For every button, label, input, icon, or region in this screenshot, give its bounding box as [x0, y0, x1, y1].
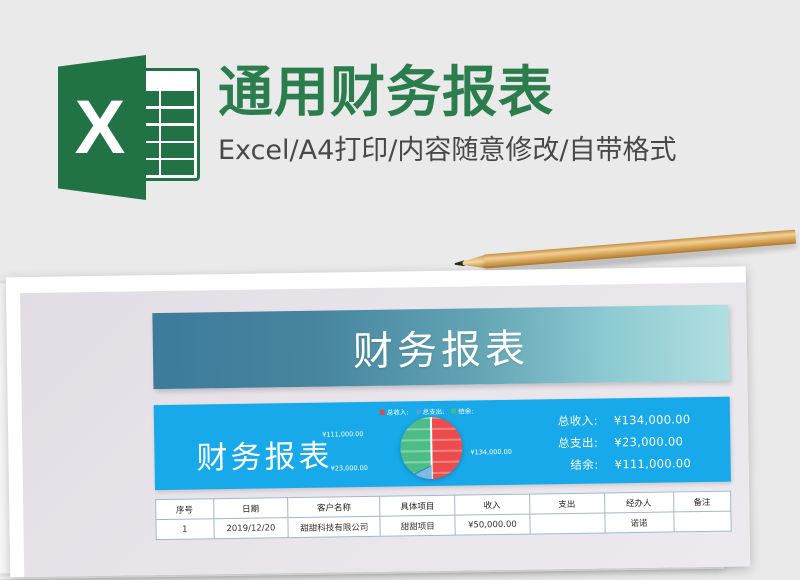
pie-slice-income — [431, 417, 463, 479]
document-preview-stack: 财务报表 财务报表 总收入: 总支出: — [0, 266, 748, 577]
table-header-project: 具体项目 — [380, 495, 455, 516]
pie-label-expense: ¥23,000.00 — [331, 464, 368, 473]
pencil-graphite-tip — [454, 260, 464, 267]
legend-item-balance: 结余: — [451, 405, 473, 415]
report-banner: 财务报表 — [152, 305, 729, 390]
cell-note — [673, 511, 731, 532]
pie-label-income: ¥134,000.00 — [470, 448, 511, 457]
page-subtitle: Excel/A4打印/内容随意修改/自带格式 — [218, 128, 676, 167]
cell-expense — [530, 513, 605, 534]
legend-label-income: 总收入: — [387, 406, 409, 416]
totals-block: 总收入: ¥134,000.00 总支出: ¥23,000.00 结余: ¥11… — [536, 411, 717, 480]
total-value-balance: ¥111,000.00 — [615, 456, 692, 471]
summary-title: 财务报表 — [196, 431, 333, 478]
excel-file-icon: X — [58, 55, 206, 200]
table-header-date: 日期 — [213, 498, 288, 519]
hero-section: X 通用财务报表 Excel/A4打印/内容随意修改/自带格式 — [0, 0, 800, 240]
total-row-balance: 结余: ¥111,000.00 — [537, 455, 717, 474]
excel-x-panel: X — [58, 55, 146, 200]
total-value-income: ¥134,000.00 — [614, 412, 691, 427]
cell-operator: 诺诺 — [604, 512, 673, 533]
legend-item-income: 总收入: — [380, 406, 409, 416]
cell-date: 2019/12/20 — [213, 518, 288, 539]
total-label-balance: 结余: — [537, 457, 599, 474]
page-title: 通用财务报表 — [218, 63, 676, 122]
summary-panel: 财务报表 总收入: 总支出: 结余: — [154, 397, 731, 491]
total-row-income: 总收入: ¥134,000.00 — [536, 411, 716, 430]
pie-chart — [400, 417, 463, 480]
legend-item-expense: 总支出: — [415, 406, 444, 416]
table-header-note: 备注 — [673, 491, 731, 512]
total-value-expense: ¥23,000.00 — [614, 434, 683, 449]
pie-label-balance: ¥111,000.00 — [322, 430, 363, 439]
table-header-no: 序号 — [156, 499, 214, 520]
total-row-expense: 总支出: ¥23,000.00 — [536, 433, 716, 452]
paper-sheet-front: 财务报表 财务报表 总收入: 总支出: — [6, 266, 750, 577]
pencil-sharpened-cone — [462, 254, 487, 270]
legend-label-balance: 结余: — [458, 405, 473, 415]
legend-swatch-expense — [416, 409, 421, 414]
legend-swatch-balance — [451, 408, 456, 413]
hero-text-block: 通用财务报表 Excel/A4打印/内容随意修改/自带格式 — [218, 55, 676, 167]
hero-content: X 通用财务报表 Excel/A4打印/内容随意修改/自带格式 — [58, 55, 676, 200]
records-table: 序号 日期 客户名称 具体项目 收入 支出 经办人 备注 1 2019/12/2… — [155, 491, 732, 541]
cell-customer: 甜甜科技有限公司 — [288, 516, 380, 537]
table-header-income: 收入 — [455, 494, 530, 515]
report-page: 财务报表 财务报表 总收入: 总支出: — [20, 282, 750, 577]
legend-swatch-income — [380, 409, 385, 414]
table-header-expense: 支出 — [529, 493, 604, 514]
excel-letter-x: X — [75, 90, 124, 166]
total-label-income: 总收入: — [536, 413, 598, 430]
pie-chart-circle — [400, 417, 463, 480]
chart-legend: 总收入: 总支出: 结余: — [380, 405, 474, 416]
cell-no: 1 — [156, 519, 214, 540]
legend-label-expense: 总支出: — [422, 406, 444, 416]
total-label-expense: 总支出: — [536, 435, 598, 452]
table-header-operator: 经办人 — [604, 492, 673, 513]
table-header-customer: 客户名称 — [288, 496, 380, 517]
report-banner-title: 财务报表 — [352, 317, 529, 378]
cell-income: ¥50,000.00 — [455, 514, 530, 535]
